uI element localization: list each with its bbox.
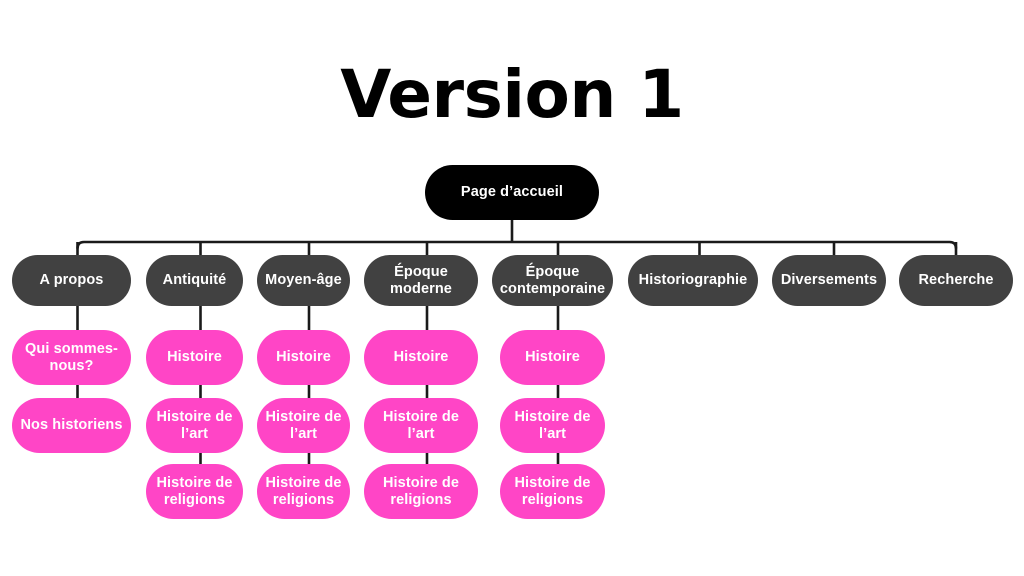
- node-label: Histoire de l’art: [152, 409, 237, 443]
- node-category-moyen-age[interactable]: Moyen-âge: [257, 255, 350, 306]
- node-label: Histoire de l’art: [506, 409, 599, 443]
- node-label: Histoire: [370, 349, 472, 366]
- node-label: A propos: [18, 272, 125, 289]
- node-label: Histoire: [152, 349, 237, 366]
- node-label: Historiographie: [634, 272, 752, 289]
- node-sub-antiquite-histoire-religions[interactable]: Histoire de religions: [146, 464, 243, 519]
- node-label: Antiquité: [152, 272, 237, 289]
- node-sub-epoque-contemporaine-histoire-religions[interactable]: Histoire de religions: [500, 464, 605, 519]
- node-sub-antiquite-histoire-art[interactable]: Histoire de l’art: [146, 398, 243, 453]
- node-category-recherche[interactable]: Recherche: [899, 255, 1013, 306]
- node-label: Recherche: [905, 272, 1007, 289]
- node-label: Moyen-âge: [263, 272, 344, 289]
- node-sub-moyen-age-histoire-religions[interactable]: Histoire de religions: [257, 464, 350, 519]
- node-sub-nos-historiens[interactable]: Nos historiens: [12, 398, 131, 453]
- node-label: Nos historiens: [18, 417, 125, 434]
- node-label: Époque moderne: [370, 264, 472, 298]
- node-label: Histoire: [506, 349, 599, 366]
- node-label: Histoire de religions: [152, 475, 237, 509]
- node-category-epoque-contemporaine[interactable]: Époque contemporaine: [492, 255, 613, 306]
- node-root[interactable]: Page d’accueil: [425, 165, 599, 220]
- node-sub-qui-sommes-nous[interactable]: Qui sommes-nous?: [12, 330, 131, 385]
- node-label: Qui sommes-nous?: [18, 341, 125, 375]
- node-label: Histoire: [263, 349, 344, 366]
- node-sub-antiquite-histoire[interactable]: Histoire: [146, 330, 243, 385]
- node-sub-epoque-moderne-histoire-religions[interactable]: Histoire de religions: [364, 464, 478, 519]
- node-sub-epoque-contemporaine-histoire[interactable]: Histoire: [500, 330, 605, 385]
- node-category-epoque-moderne[interactable]: Époque moderne: [364, 255, 478, 306]
- node-label: Histoire de religions: [263, 475, 344, 509]
- node-label: Histoire de l’art: [263, 409, 344, 443]
- page-title: Version 1: [0, 55, 1024, 135]
- node-category-a-propos[interactable]: A propos: [12, 255, 131, 306]
- node-sub-epoque-moderne-histoire-art[interactable]: Histoire de l’art: [364, 398, 478, 453]
- node-label: Histoire de religions: [506, 475, 599, 509]
- sitemap-diagram: Version 1: [0, 0, 1024, 576]
- node-sub-moyen-age-histoire[interactable]: Histoire: [257, 330, 350, 385]
- node-sub-moyen-age-histoire-art[interactable]: Histoire de l’art: [257, 398, 350, 453]
- node-sub-epoque-moderne-histoire[interactable]: Histoire: [364, 330, 478, 385]
- connector-bus: [78, 242, 957, 249]
- node-category-historiographie[interactable]: Historiographie: [628, 255, 758, 306]
- node-category-diversements[interactable]: Diversements: [772, 255, 886, 306]
- node-label: Époque contemporaine: [498, 264, 607, 298]
- node-root-label: Page d’accueil: [431, 184, 593, 201]
- node-sub-epoque-contemporaine-histoire-art[interactable]: Histoire de l’art: [500, 398, 605, 453]
- node-label: Diversements: [778, 272, 880, 289]
- node-category-antiquite[interactable]: Antiquité: [146, 255, 243, 306]
- node-label: Histoire de religions: [370, 475, 472, 509]
- node-label: Histoire de l’art: [370, 409, 472, 443]
